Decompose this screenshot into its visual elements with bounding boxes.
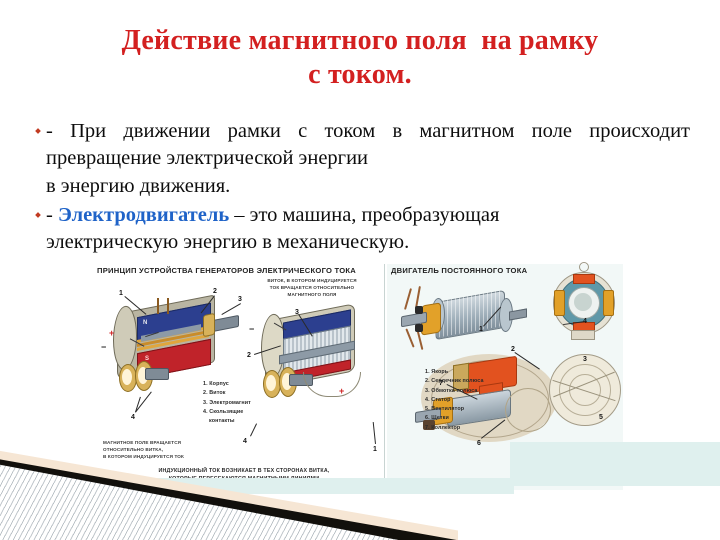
illustration-image: ПРИНЦИП УСТРОЙСТВА ГЕНЕРАТОРОВ ЭЛЕКТРИЧЕ… [95, 264, 623, 490]
motor-graphics-layer: 1 2 3 4 5 6 7 1. Якорь 2. Сердечник полю… [387, 264, 623, 490]
legend-item: 1. Якорь [425, 368, 521, 377]
polarity-minus: − [101, 342, 106, 352]
bullet-dash: - [46, 204, 58, 226]
legend-item: 3. Обмотка полюса [425, 387, 521, 396]
panel-divider [384, 264, 385, 490]
callout-number: 5 [599, 414, 603, 421]
legend-item: 1. Корпус [203, 380, 293, 389]
callout-number: 1 [119, 290, 123, 297]
legend-item: 5. Вентилятор [425, 405, 521, 414]
keyword-electric-motor: Электродвигатель [58, 204, 229, 226]
generator-mid-caption: ВИТОК, В КОТОРОМ ИНДУЦИРУЕТСЯ ТОК ВРАЩАЕ… [258, 278, 366, 299]
bullet-marker-icon [30, 202, 46, 217]
callout-number: 2 [213, 288, 217, 295]
generator-bottom-caption: ИНДУКЦИОННЫЙ ТОК ВОЗНИКАЕТ В ТЕХ СТОРОНА… [119, 467, 369, 483]
legend-item: 6. Щетки [425, 414, 521, 423]
bullet-text-1: - При движении рамки с током в магнитном… [46, 118, 690, 200]
legend-item: 4. Скользящие [203, 408, 293, 417]
legend-item: 2. Сердечник полюса [425, 377, 521, 386]
armature-drawing [395, 282, 525, 356]
callout-number: 4 [131, 414, 135, 421]
slide-canvas: Действие магнитного поля на рамку с токо… [0, 0, 720, 540]
bullet-list: - При движении рамки с током в магнитном… [30, 118, 690, 258]
generator-heading: ПРИНЦИП УСТРОЙСТВА ГЕНЕРАТОРОВ ЭЛЕКТРИЧЕ… [97, 266, 356, 275]
motor-cross-section-bottom [539, 350, 623, 434]
legend-item: 3. Электромагнит [203, 399, 293, 408]
callout-number: 3 [238, 296, 242, 303]
bullet-marker-icon [30, 118, 46, 133]
polarity-plus: + [109, 328, 114, 338]
bullet-line: - При движении рамки с током в магнитном… [46, 120, 572, 142]
legend-item: 2. Виток [203, 389, 293, 398]
bullet-line: – это машина, преобразующая [229, 204, 499, 226]
motor-cross-section-top [537, 266, 621, 344]
list-item: - Электродвигатель – это машина, преобра… [30, 202, 690, 257]
list-item: - При движении рамки с током в магнитном… [30, 118, 690, 200]
generator-bottom-left-caption: МАГНИТНОЕ ПОЛЕ ВРАЩАЕТСЯ ОТНОСИТЕЛЬНО ВИ… [103, 440, 233, 461]
bullet-line: электрическую энергию в механическую. [46, 229, 690, 256]
callout-number: 6 [477, 440, 481, 447]
bullet-text-2: - Электродвигатель – это машина, преобра… [46, 202, 690, 257]
legend-item: 7. Коллектор [425, 424, 521, 433]
polarity-plus: + [339, 386, 344, 396]
callout-number: 1 [373, 446, 377, 453]
callout-number: 3 [583, 356, 587, 363]
generator-legend: 1. Корпус 2. Виток 3. Электромагнит 4. С… [203, 380, 293, 426]
page-title: Действие магнитного поля на рамку с токо… [0, 24, 720, 92]
polarity-minus: − [249, 324, 254, 334]
callout-number: 4 [243, 438, 247, 445]
legend-item: 4. Статор [425, 396, 521, 405]
callout-number: 2 [247, 352, 251, 359]
callout-number: 1 [479, 326, 483, 333]
motor-legend: 1. Якорь 2. Сердечник полюса 3. Обмотка … [425, 368, 521, 433]
bullet-line: в энергию движения. [46, 173, 690, 200]
legend-item: контакты [203, 417, 293, 426]
